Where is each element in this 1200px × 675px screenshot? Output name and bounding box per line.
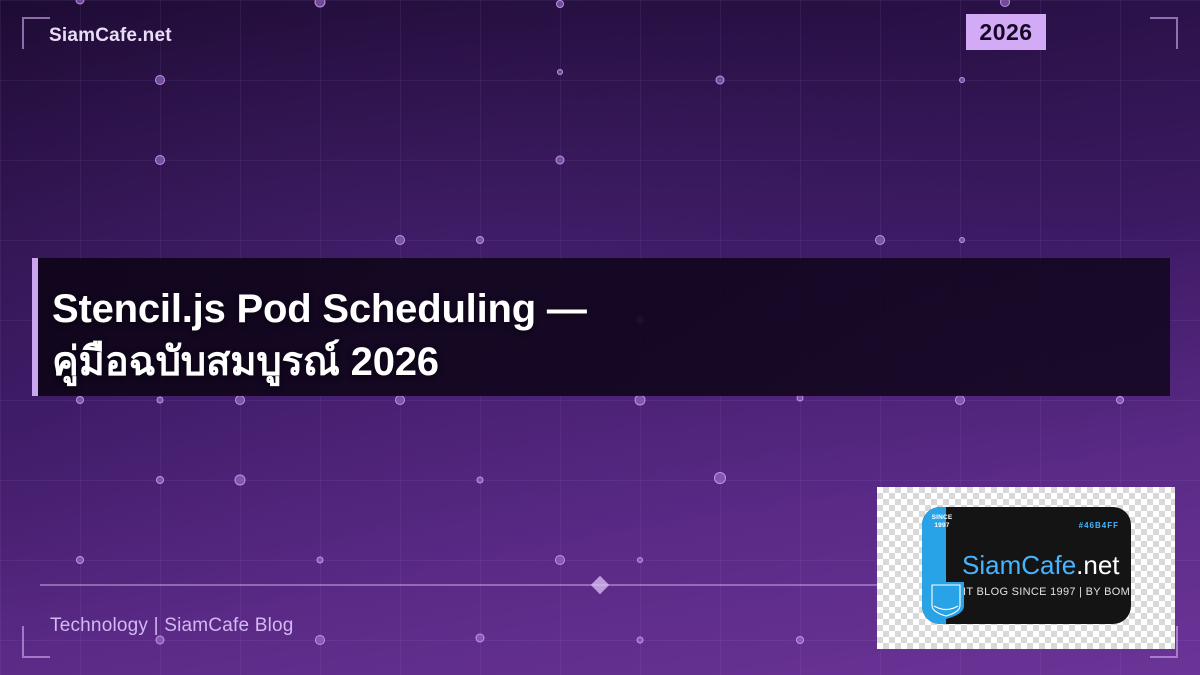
shield-line-1: SINCE [922, 514, 962, 522]
decor-dot [557, 69, 563, 75]
corner-bracket-top-right-icon [1150, 17, 1178, 49]
decor-dot [477, 477, 484, 484]
divider-diamond-icon [591, 576, 609, 594]
brand-wordmark-secondary: .net [1076, 550, 1119, 580]
corner-bracket-bottom-left-icon [22, 626, 50, 658]
decor-dot [556, 0, 564, 8]
decor-dot [635, 395, 646, 406]
brand-logo-card: #46B4FF SiamCafe.net IT BLOG SINCE 1997 … [877, 487, 1175, 649]
site-logo-text: SiamCafe.net [49, 25, 172, 47]
decor-dot [796, 636, 804, 644]
decor-dot [315, 0, 326, 8]
title-accent-bar [32, 258, 38, 396]
decor-dot [556, 156, 565, 165]
decor-dot [955, 395, 965, 405]
decor-dot [155, 155, 165, 165]
decor-dot [76, 396, 84, 404]
decor-dot [875, 235, 885, 245]
decor-dot [235, 475, 246, 486]
since-1997-shield-text: SINCE 1997 [922, 514, 962, 530]
decor-dot [395, 395, 405, 405]
corner-bracket-top-left-icon [22, 17, 50, 49]
decor-dot [76, 0, 85, 5]
decor-dot [637, 637, 644, 644]
decor-dot [476, 634, 485, 643]
brand-wordmark: SiamCafe.net [962, 550, 1120, 581]
brand-logo-plate: #46B4FF SiamCafe.net IT BLOG SINCE 1997 … [922, 507, 1131, 624]
page-title: Stencil.js Pod Scheduling — คู่มือฉบับสม… [52, 283, 1152, 389]
footer-category-label: Technology | SiamCafe Blog [50, 615, 294, 637]
decor-dot [395, 235, 405, 245]
social-card-canvas: SiamCafe.net 2026 Stencil.js Pod Schedul… [0, 0, 1200, 675]
decor-dot [1000, 0, 1010, 7]
decor-dot [959, 237, 965, 243]
brand-wordmark-primary: SiamCafe [962, 550, 1076, 580]
decor-dot [156, 476, 164, 484]
since-1997-shield-icon [926, 582, 966, 620]
decor-dot [157, 397, 164, 404]
decor-dot [317, 557, 324, 564]
brand-tagline: IT BLOG SINCE 1997 | BY BOM [963, 586, 1130, 598]
decor-dot [155, 75, 165, 85]
decor-dot [76, 556, 84, 564]
decor-dot [714, 472, 726, 484]
decor-dot [637, 557, 643, 563]
decor-dot [315, 635, 325, 645]
decor-dot [716, 76, 725, 85]
brand-color-hex-label: #46B4FF [1079, 521, 1119, 530]
decor-dot [1116, 396, 1124, 404]
decor-dot [476, 236, 484, 244]
decor-dot [555, 555, 565, 565]
decor-dot [235, 395, 245, 405]
shield-line-2: 1997 [922, 522, 962, 530]
year-badge: 2026 [966, 14, 1046, 50]
decor-dot [959, 77, 965, 83]
